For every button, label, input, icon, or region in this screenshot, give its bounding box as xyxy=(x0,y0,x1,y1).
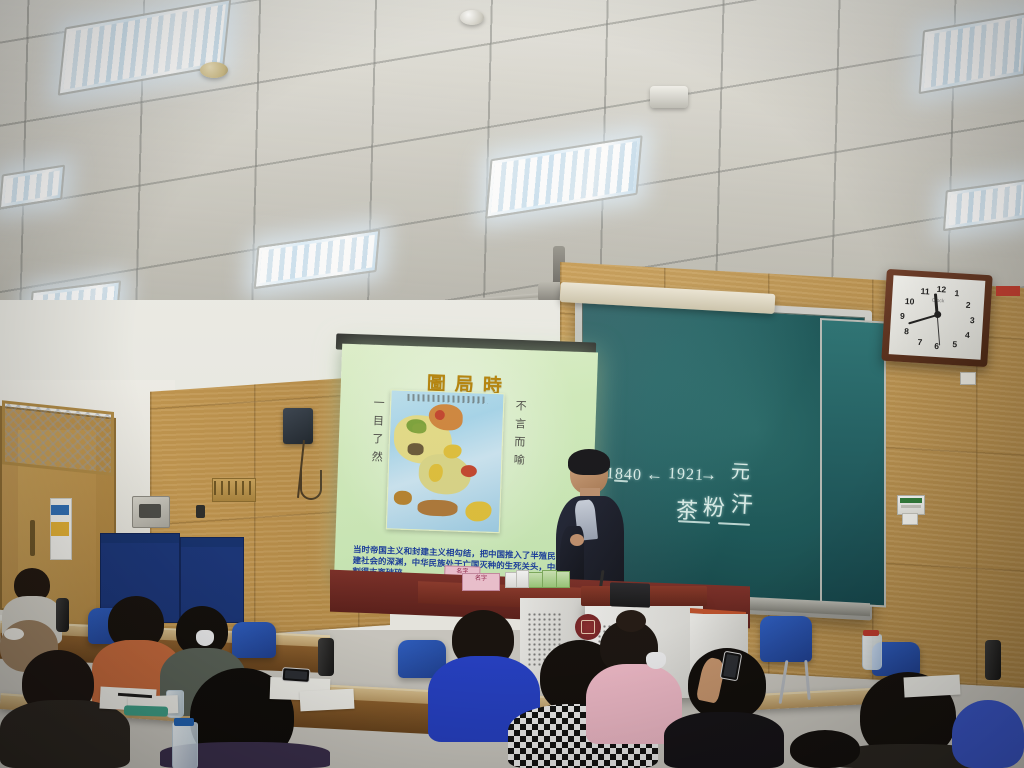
wall-sign-upper-right xyxy=(996,286,1020,296)
hair-tie xyxy=(4,628,24,640)
blackboard-note-char-yuan: 元 xyxy=(730,456,751,484)
wall-sign-tail xyxy=(902,513,918,525)
thermos-tumbler xyxy=(56,598,69,632)
hair-bun xyxy=(616,610,646,632)
slide-vertical-text-left: 一目了然 xyxy=(368,397,387,470)
photo-scene: 1840 ← 1921 → 元 茶 粉 汗 Clock 12 1 2 3 4 5… xyxy=(0,0,1024,768)
door-notice-band xyxy=(51,522,69,536)
clock-numeral: 11 xyxy=(920,286,930,297)
face-mask xyxy=(196,630,214,646)
clock-numeral: 3 xyxy=(970,315,975,325)
student-chair[interactable] xyxy=(232,622,276,658)
wall-sign-accent-bar xyxy=(900,498,922,503)
student-body xyxy=(664,712,784,768)
student-chair[interactable] xyxy=(760,616,812,662)
green-box-item xyxy=(527,572,543,588)
wall-clock: Clock 12 1 2 3 4 5 6 7 8 9 10 11 xyxy=(881,269,992,367)
door-window xyxy=(2,400,114,476)
cable-loop xyxy=(300,470,322,500)
white-box-item xyxy=(505,572,517,588)
bottle-cap xyxy=(174,718,194,726)
clock-numeral: 8 xyxy=(904,326,909,336)
clock-numeral: 4 xyxy=(965,330,970,340)
green-box-item xyxy=(556,571,570,588)
face-mask xyxy=(646,652,666,669)
door-handle[interactable] xyxy=(30,520,35,556)
desk-name-card-text: 名字 xyxy=(463,574,499,585)
blackboard-note-char-fen: 粉 xyxy=(702,489,727,522)
thermos-tumbler xyxy=(318,638,334,676)
clock-numeral: 10 xyxy=(905,296,915,307)
blackboard-note-arrow-left: ← xyxy=(645,465,664,486)
laptop-on-lectern[interactable] xyxy=(610,582,650,607)
wall-control-panel[interactable] xyxy=(283,408,313,444)
student-head xyxy=(790,730,860,768)
clock-numeral: 12 xyxy=(936,284,946,295)
water-bottle xyxy=(862,634,882,670)
clock-numeral: 1 xyxy=(954,288,959,298)
school-emblem-icon xyxy=(575,614,601,640)
presenter-hair xyxy=(568,449,610,475)
handout-paper xyxy=(904,675,961,698)
thermos-tumbler xyxy=(985,640,1001,680)
white-box-item xyxy=(516,570,529,588)
wall-sign xyxy=(897,495,925,515)
clock-numeral: 7 xyxy=(917,337,922,347)
clock-center-pin xyxy=(934,311,941,318)
electrical-panel-window xyxy=(139,504,161,518)
blackboard-note-arrow-right: → xyxy=(699,465,718,486)
student-body xyxy=(0,700,130,768)
blackboard-side-panel xyxy=(820,318,886,607)
clock-numeral: 9 xyxy=(900,311,905,321)
door-notice-band xyxy=(51,505,69,515)
smoke-detector-icon xyxy=(650,86,688,108)
student-head xyxy=(952,700,1024,768)
clock-minute-hand xyxy=(908,314,937,324)
wall-switch[interactable] xyxy=(196,505,205,518)
slide-cartoon-map-image xyxy=(386,389,505,533)
clock-numeral: 2 xyxy=(966,300,971,310)
smoke-detector-icon xyxy=(200,62,228,78)
clock-face: Clock 12 1 2 3 4 5 6 7 8 9 10 11 xyxy=(889,275,986,359)
wall-sign-text-line xyxy=(901,505,921,508)
pencil-case xyxy=(124,705,168,717)
handout-paper xyxy=(300,689,355,712)
water-bottle xyxy=(172,722,198,768)
green-box-item xyxy=(542,570,557,588)
key-hooks xyxy=(214,481,252,495)
map-label-strip xyxy=(407,394,487,404)
presenter-hand xyxy=(570,534,584,546)
smartphone-on-desk[interactable] xyxy=(282,667,311,683)
desk-name-card: 名字 xyxy=(462,573,500,591)
blackboard-note-char-han: 汗 xyxy=(730,486,755,519)
wall-outlet[interactable] xyxy=(960,372,976,385)
bottle-cap xyxy=(863,630,879,636)
clock-numeral: 5 xyxy=(952,339,957,349)
smoke-detector-icon xyxy=(460,10,484,25)
slide-vertical-text-right: 不言而喻 xyxy=(510,400,529,473)
